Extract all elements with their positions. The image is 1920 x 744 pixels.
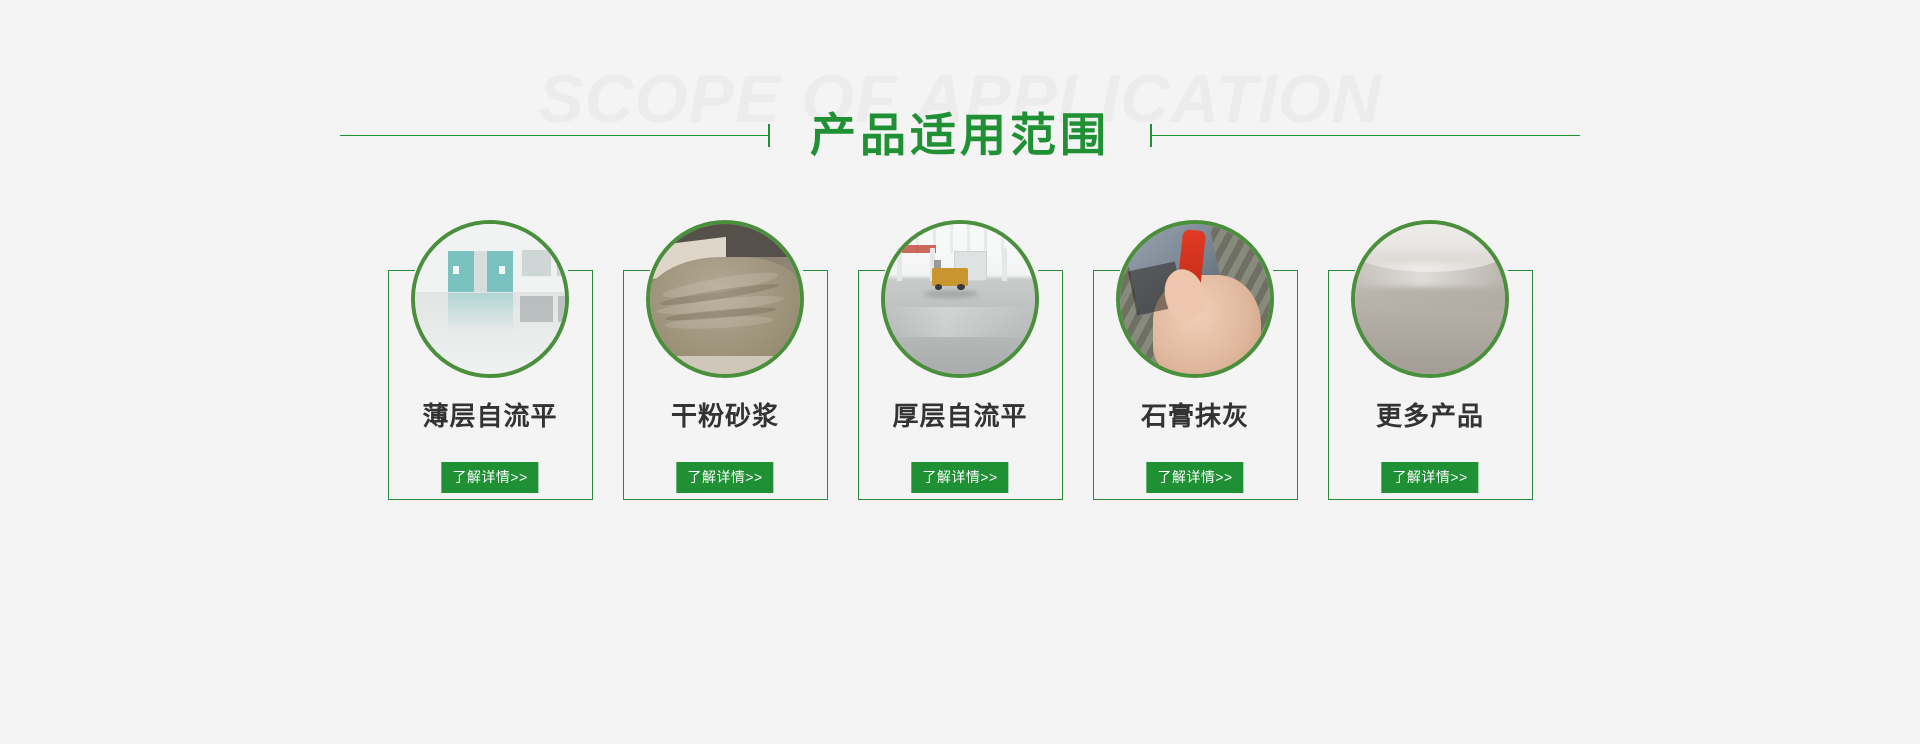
learn-more-button[interactable]: 了解详情>> xyxy=(1381,462,1478,493)
product-card-thick-layer-self-leveling[interactable]: 厚层自流平 了解详情>> xyxy=(858,200,1063,520)
product-thumbnail xyxy=(1351,220,1509,378)
card-label: 薄层自流平 xyxy=(388,396,593,433)
learn-more-button[interactable]: 了解详情>> xyxy=(676,462,773,493)
application-scope-section: SCOPE OF APPLICATION 产品适用范围 xyxy=(0,0,1920,744)
product-card-gypsum-plastering[interactable]: 石膏抹灰 了解详情>> xyxy=(1093,200,1298,520)
title-row: 产品适用范围 xyxy=(0,100,1920,170)
card-label: 厚层自流平 xyxy=(858,396,1063,433)
product-thumbnail xyxy=(881,220,1039,378)
card-label: 干粉砂浆 xyxy=(623,396,828,433)
thick-layer-self-leveling-factory-floor-image xyxy=(885,224,1035,374)
card-label: 石膏抹灰 xyxy=(1093,396,1298,433)
thin-layer-self-leveling-floor-image xyxy=(415,224,565,374)
gypsum-plastering-trowel-image xyxy=(1120,224,1270,374)
learn-more-button[interactable]: 了解详情>> xyxy=(1146,462,1243,493)
section-header: SCOPE OF APPLICATION 产品适用范围 xyxy=(0,0,1920,200)
learn-more-button[interactable]: 了解详情>> xyxy=(441,462,538,493)
card-label: 更多产品 xyxy=(1328,396,1533,433)
product-card-thin-layer-self-leveling[interactable]: 薄层自流平 了解详情>> xyxy=(388,200,593,520)
title-rule-left xyxy=(340,135,770,136)
dry-powder-mortar-bag-image xyxy=(650,224,800,374)
learn-more-button[interactable]: 了解详情>> xyxy=(911,462,1008,493)
page-title: 产品适用范围 xyxy=(770,112,1150,158)
product-card-more-products[interactable]: 更多产品 了解详情>> xyxy=(1328,200,1533,520)
more-products-glossy-surface-image xyxy=(1355,224,1505,374)
title-rule-right xyxy=(1150,135,1580,136)
tick-right-icon xyxy=(1150,124,1152,147)
product-thumbnail xyxy=(1116,220,1274,378)
product-card-list: 薄层自流平 了解详情>> 干粉砂浆 了解详情>> xyxy=(0,200,1920,620)
tick-left-icon xyxy=(768,124,770,147)
product-thumbnail xyxy=(646,220,804,378)
product-thumbnail xyxy=(411,220,569,378)
product-card-dry-powder-mortar[interactable]: 干粉砂浆 了解详情>> xyxy=(623,200,828,520)
